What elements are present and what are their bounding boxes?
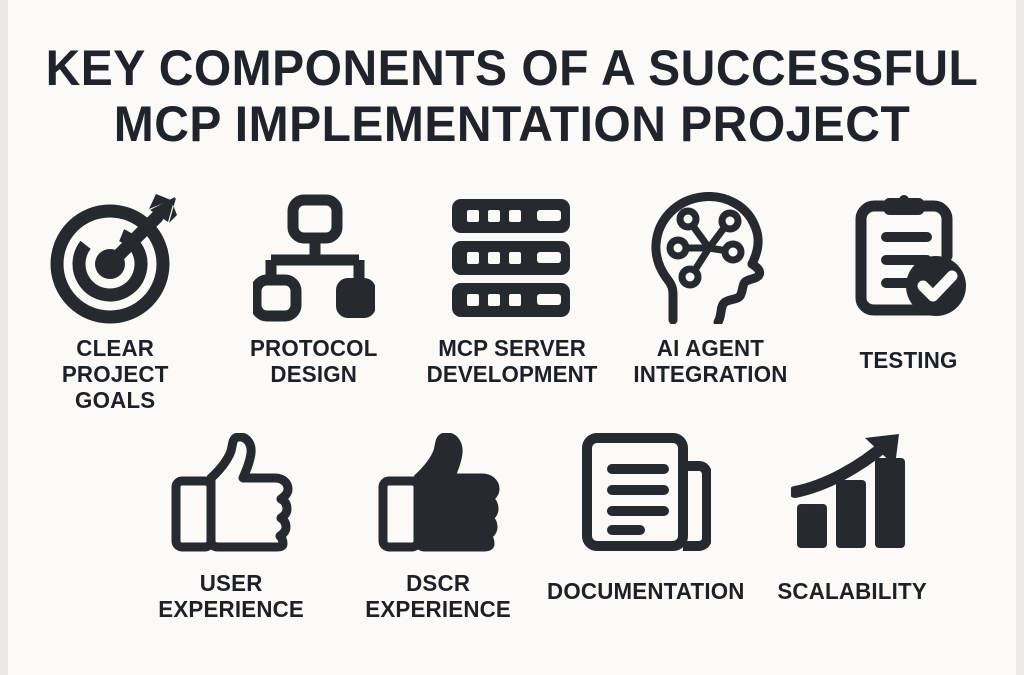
component-item-user-experience[interactable]: USER EXPERIENCE: [128, 425, 335, 622]
component-label: SCALABILITY: [778, 578, 928, 604]
component-label: PROTOCOL DESIGN: [250, 335, 378, 387]
component-label: DOCUMENTATION: [547, 578, 745, 604]
clipboard-check-icon: [848, 190, 970, 325]
page-title: KEY COMPONENTS OF A SUCCESSFUL MCP IMPLE…: [8, 40, 1016, 152]
title-line-1: KEY COMPONENTS OF A SUCCESSFUL: [28, 40, 996, 96]
component-item-dscr-experience[interactable]: DSCR EXPERIENCE: [335, 425, 542, 622]
component-item-testing[interactable]: TESTING: [810, 190, 1008, 373]
component-item-ai-agent-integration[interactable]: AI AGENT INTEGRATION: [611, 190, 809, 387]
infographic-poster: KEY COMPONENTS OF A SUCCESSFUL MCP IMPLE…: [0, 0, 1024, 675]
component-label: USER EXPERIENCE: [159, 570, 305, 622]
right-edge-strip: [1016, 0, 1024, 675]
component-item-scalability[interactable]: SCALABILITY: [749, 425, 956, 604]
server-stack-icon: [449, 190, 575, 325]
component-item-clear-project-goals[interactable]: CLEAR PROJECT GOALS: [16, 190, 214, 413]
component-item-documentation[interactable]: DOCUMENTATION: [542, 425, 749, 604]
poster-canvas: KEY COMPONENTS OF A SUCCESSFUL MCP IMPLE…: [8, 0, 1016, 675]
component-label: TESTING: [860, 347, 958, 373]
title-line-2: MCP IMPLEMENTATION PROJECT: [28, 96, 996, 152]
component-item-protocol-design[interactable]: PROTOCOL DESIGN: [214, 190, 412, 387]
component-row-top: CLEAR PROJECT GOALS: [16, 190, 1008, 413]
component-label: DSCR EXPERIENCE: [366, 570, 512, 622]
component-label: MCP SERVER DEVELOPMENT: [427, 335, 598, 387]
document-lines-icon: [581, 425, 711, 560]
component-item-mcp-server-development[interactable]: MCP SERVER DEVELOPMENT: [413, 190, 611, 387]
growth-chart-icon: [791, 425, 915, 560]
head-network-icon: [648, 190, 772, 325]
thumbs-up-outline-icon: [170, 425, 294, 560]
target-arrow-icon: [50, 190, 180, 325]
component-label: CLEAR PROJECT GOALS: [19, 335, 211, 413]
thumbs-up-solid-icon: [377, 425, 501, 560]
component-row-bottom: USER EXPERIENCE DSCR EXPERIENCE: [128, 425, 956, 622]
component-label: AI AGENT INTEGRATION: [633, 335, 787, 387]
left-edge-strip: [0, 0, 8, 675]
hierarchy-chart-icon: [253, 190, 375, 325]
